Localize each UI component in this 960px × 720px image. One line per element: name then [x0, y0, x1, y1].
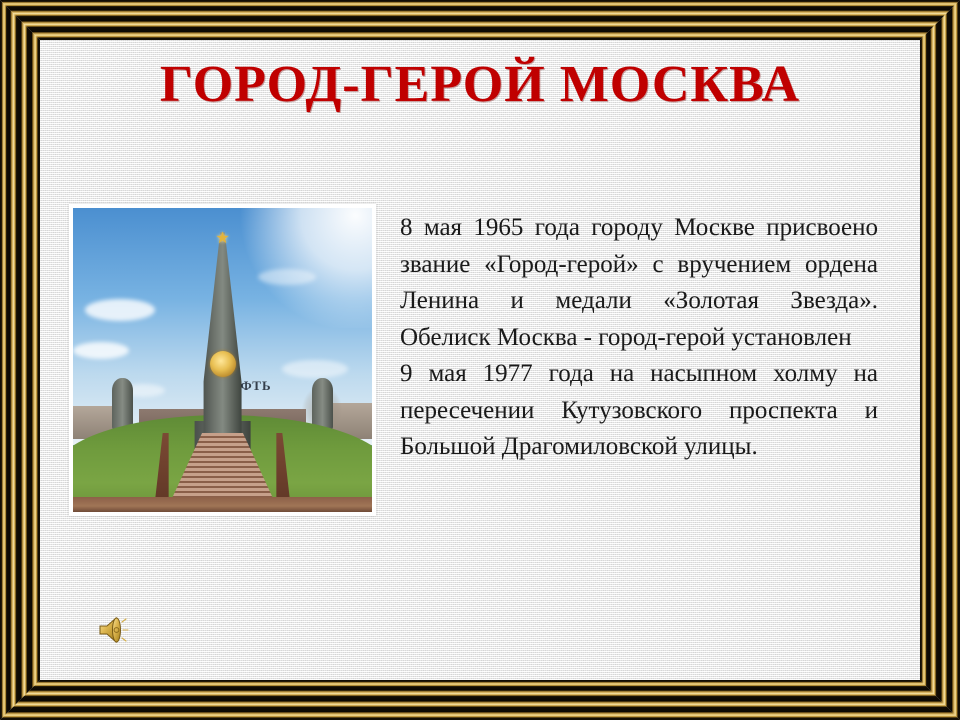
- photo-canvas: ★ ФТЬ: [73, 208, 372, 512]
- monument-photo: ★ ФТЬ: [69, 204, 376, 516]
- gold-medal-emblem: [210, 351, 236, 377]
- photo-cloud: [73, 342, 129, 359]
- page-title: ГОРОД-ГЕРОЙ МОСКВА: [60, 58, 900, 113]
- photo-cloud: [258, 269, 316, 285]
- frame-border-top: [0, 0, 960, 40]
- photo-cloud: [282, 360, 348, 378]
- body-paragraph-2: Обелиск Москва - город-герой установлен: [400, 320, 878, 357]
- photo-statue-right: [312, 378, 333, 430]
- body-paragraph-1: 8 мая 1965 года городу Москве присвоено …: [400, 210, 878, 320]
- slide-body-text: 8 мая 1965 года городу Москве присвоено …: [400, 210, 878, 466]
- body-paragraph-3: 9 мая 1977 года на насыпном холму на пер…: [400, 356, 878, 466]
- speaker-icon-glyph: [95, 613, 135, 647]
- frame-border-bottom: [0, 680, 960, 720]
- frame-border-right: [920, 0, 960, 720]
- photo-statue-left: [112, 378, 133, 430]
- photo-plaza: [73, 497, 372, 512]
- gold-star-icon: ★: [215, 231, 231, 247]
- speaker-icon[interactable]: [95, 613, 135, 647]
- presentation-slide: ГОРОД-ГЕРОЙ МОСКВА ★ ФТЬ: [0, 0, 960, 720]
- frame-border-left: [0, 0, 40, 720]
- photo-monument-inscription: ФТЬ: [240, 378, 271, 394]
- photo-sun-glow: [228, 208, 372, 328]
